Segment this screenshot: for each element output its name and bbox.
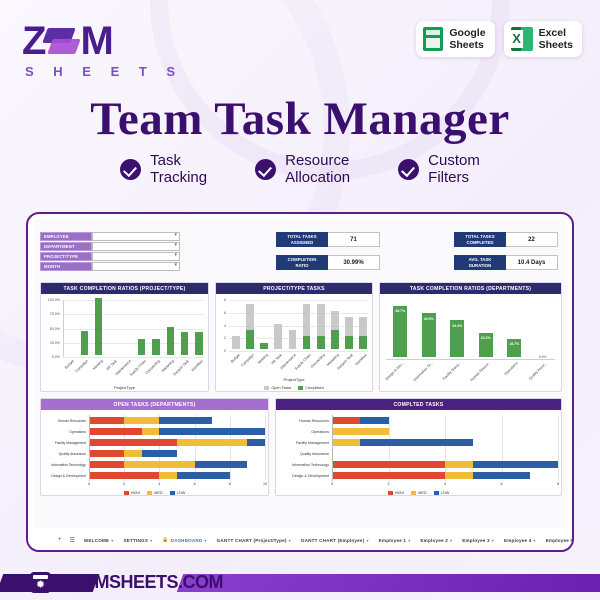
kpi-completion-ratio: COMPLETION RATIO 30.99% <box>276 255 380 270</box>
footer-logo[interactable]: ZOOMSHEETS.COM <box>30 572 223 593</box>
bar-segment-low <box>159 417 212 424</box>
y-axis-category-label: Design & Development <box>276 473 329 477</box>
check-circle-icon <box>255 159 276 180</box>
chart-plot-area: 0.0%25.0%50.0%75.0%100.0%BudgetCampaignM… <box>41 294 208 391</box>
kpi-total-tasks-assigned: TOTAL TASKS ASSIGNED 71 <box>276 232 380 247</box>
lock-icon: 🔒 <box>162 537 168 543</box>
bar-data-label: 33.3% <box>452 324 462 328</box>
x-axis-tick: 2 <box>123 482 125 486</box>
filter-label: PROJECT/TYPE <box>40 252 92 261</box>
feature-label: Resource Allocation <box>285 152 350 186</box>
bar-segment-high <box>89 439 177 446</box>
chevron-down-icon[interactable]: ▾ <box>204 538 206 543</box>
y-axis-category-label: Information Technology <box>276 462 329 466</box>
x-axis-tick: Quality Assur... <box>526 361 547 382</box>
sheet-tab-label: DASHBOARD <box>171 538 203 543</box>
y-axis-tick: 0 <box>216 349 226 353</box>
kpi-value: 10.4 Days <box>506 255 558 270</box>
chart-card-project-type-tasks: PROJECT/TYPE TASKS 02468BudgetCampaignMe… <box>215 282 373 392</box>
bar-segment-high <box>89 417 124 424</box>
bar-segment-med <box>177 439 247 446</box>
bar-segment-open <box>303 304 311 336</box>
bar-segment-low <box>473 461 558 468</box>
legend-label: MED <box>418 491 426 495</box>
legend-label: HIGH <box>131 491 141 495</box>
kpi-value: 22 <box>506 232 558 247</box>
sheet-tab-label: Employee 2 <box>420 538 448 543</box>
x-axis <box>386 359 555 360</box>
add-sheet-button[interactable]: + <box>54 537 66 543</box>
bar <box>167 327 174 356</box>
dashboard-window: EMPLOYEEDEPARTMENTPROJECT/TYPEMONTH TOTA… <box>26 212 574 552</box>
bar-segment-med <box>124 417 159 424</box>
gridline <box>265 415 266 481</box>
x-axis-title: ProjectType <box>216 377 372 382</box>
chart-title: COMPLTED TASKS <box>276 399 561 410</box>
bar-segment-open <box>317 304 325 336</box>
bar-segment-completed <box>345 336 353 349</box>
footer-bar-right <box>177 574 600 592</box>
gridline <box>229 351 368 352</box>
gridline <box>63 300 204 301</box>
bar-segment-open <box>289 330 297 349</box>
x-axis-tick: 0 <box>331 482 333 486</box>
sheet-tab-label: GANTT CHART (Employee) <box>301 538 365 543</box>
sheet-tab-welcome[interactable]: WELCOME▾ <box>79 538 119 543</box>
bar-segment-open <box>246 304 254 330</box>
bar-segment-completed <box>331 330 339 349</box>
kpi-label: COMPLETION RATIO <box>276 255 328 270</box>
kpi-value: 30.99% <box>328 255 380 270</box>
excel-icon: X <box>511 27 533 51</box>
feature-line2: Tracking <box>150 169 207 186</box>
sheet-tab-label: Employee 5 <box>546 538 572 543</box>
sheet-tab-label: WELCOME <box>84 538 109 543</box>
bar <box>393 306 407 357</box>
bar-segment-completed <box>317 336 325 349</box>
x-axis-tick: 10 <box>263 482 267 486</box>
chart-title: PROJECT/TYPE TASKS <box>216 283 372 294</box>
platform-badges: Google Sheets X Excel Sheets <box>416 21 582 57</box>
bar-segment-med <box>124 450 142 457</box>
filter-dropdown[interactable] <box>92 242 180 251</box>
bar-segment-completed <box>260 343 268 349</box>
feature-item-resource-allocation: Resource Allocation <box>255 152 350 186</box>
kpi-label: TOTAL TASKS ASSIGNED <box>276 232 328 247</box>
bar-segment-med <box>159 472 177 479</box>
bar <box>138 339 145 355</box>
legend-item: LOW <box>170 491 186 495</box>
y-axis <box>89 415 90 481</box>
sheet-tab-label: Employee 3 <box>462 538 490 543</box>
bar-segment-low <box>360 417 388 424</box>
x-axis-tick: 6 <box>194 482 196 486</box>
sheet-tab-dashboard[interactable]: 🔒DASHBOARD▾ <box>157 537 211 543</box>
gridline <box>63 329 204 330</box>
kpi-value: 71 <box>328 232 380 247</box>
footer: ZOOMSHEETS.COM <box>0 556 600 600</box>
filter-row-employee: EMPLOYEE <box>40 232 180 241</box>
chevron-down-icon[interactable]: ▾ <box>534 538 536 543</box>
feature-item-task-tracking: Task Tracking <box>120 152 207 186</box>
badge-excel-label: Excel Sheets <box>539 27 573 51</box>
bar <box>152 339 159 355</box>
legend-label: Completed <box>305 386 323 390</box>
bar <box>95 298 102 355</box>
filter-row-project-type: PROJECT/TYPE <box>40 252 180 261</box>
kpi-label-line2: RATIO <box>295 263 308 268</box>
sheet-tab-label: Employee 1 <box>379 538 407 543</box>
google-sheets-icon <box>423 27 443 51</box>
bar-data-label: 40.0% <box>424 317 434 321</box>
bar-segment-med <box>332 428 389 435</box>
bar-data-label: 22.2% <box>481 336 491 340</box>
y-axis-tick: 75.0% <box>41 312 60 316</box>
x-axis-tick: 8 <box>557 482 559 486</box>
bar-segment-completed <box>359 336 367 349</box>
filter-row-department: DEPARTMENT <box>40 242 180 251</box>
sheet-tab-settings[interactable]: SETTINGS▾ <box>119 538 158 543</box>
y-axis-category-label: Design & Development <box>41 473 86 477</box>
all-sheets-button[interactable]: ☰ <box>66 537 79 544</box>
bar-segment-completed <box>246 330 254 349</box>
bar-segment-low <box>159 428 265 435</box>
badge-line2: Sheets <box>449 39 483 51</box>
gridline <box>230 415 231 481</box>
feature-list: Task Tracking Resource Allocation Custom… <box>0 152 600 186</box>
bar-segment-high <box>89 472 159 479</box>
gridline <box>63 357 204 358</box>
chart-plot-area: 02468Human ResourcesOperationsFacility M… <box>276 410 561 495</box>
bar-data-label: 16.7% <box>509 342 519 346</box>
globe-window-icon <box>30 572 51 593</box>
y-axis <box>63 300 64 357</box>
sheet-tab-employee-2[interactable]: Employee 2▾ <box>415 538 457 543</box>
bar-segment-open <box>274 324 282 350</box>
y-axis-tick: 8 <box>216 298 226 302</box>
legend-label: LOW <box>177 491 186 495</box>
chart-title: TASK COMPLETION RATIOS (PROJECT/TYPE) <box>41 283 208 294</box>
chevron-down-icon[interactable]: ▾ <box>408 538 410 543</box>
bar-segment-completed <box>303 336 311 349</box>
legend-item: MED <box>411 491 426 495</box>
legend-label: Open Tasks <box>271 386 291 390</box>
zoomsheets-logo: Z M S H E E T S <box>22 20 183 79</box>
bar-segment-low <box>142 450 177 457</box>
y-axis-category-label: Quality Assurance <box>41 451 86 455</box>
feature-line2: Allocation <box>285 169 350 186</box>
feature-line1: Resource <box>285 152 349 169</box>
y-axis-tick: 4 <box>216 324 226 328</box>
kpi-label-line2: DURATION <box>469 263 491 268</box>
filter-label: EMPLOYEE <box>40 232 92 241</box>
feature-label: Custom Filters <box>428 152 480 186</box>
kpi-avg-task-duration: AVG. TASK DURATION 10.4 Days <box>454 255 558 270</box>
bar-segment-low <box>177 472 230 479</box>
sheet-tab-employee-5[interactable]: Employee 5▾ <box>541 538 572 543</box>
x-axis-title: ProjectType <box>41 385 208 390</box>
chart-title: TASK COMPLETION RATIOS (DEPARTMENTS) <box>380 283 561 294</box>
x-axis-tick: Information Te... <box>412 361 433 382</box>
bar-segment-open <box>359 317 367 336</box>
dashboard-canvas: EMPLOYEEDEPARTMENTPROJECT/TYPEMONTH TOTA… <box>34 220 566 528</box>
legend-item: MED <box>147 491 162 495</box>
sheet-tab-gantt-chart-project-type[interactable]: GANTT CHART (Project/Type)▾ <box>212 538 296 543</box>
bar-segment-high <box>332 417 360 424</box>
feature-item-custom-filters: Custom Filters <box>398 152 480 186</box>
gridline <box>63 314 204 315</box>
bar-segment-low <box>247 439 265 446</box>
legend-item: HIGH <box>124 491 141 495</box>
chevron-down-icon[interactable]: ▾ <box>289 538 291 543</box>
bar-segment-low <box>360 439 473 446</box>
y-axis <box>332 415 333 481</box>
legend-label: MED <box>154 491 162 495</box>
chart-plot-area: 0246810Human ResourcesOperationsFacility… <box>41 410 268 495</box>
bar-segment-high <box>332 472 445 479</box>
chart-title: OPEN TASKS (DEPARTMENTS) <box>41 399 268 410</box>
bar-segment-low <box>473 472 530 479</box>
kpi-label-line2: ASSIGNED <box>291 240 313 245</box>
legend-label: LOW <box>441 491 450 495</box>
x-axis-tick: 6 <box>500 482 502 486</box>
chart-card-completed-tasks: COMPLTED TASKS 02468Human ResourcesOpera… <box>275 398 562 496</box>
y-axis-tick: 25.0% <box>41 341 60 345</box>
x-axis-tick: 8 <box>229 482 231 486</box>
gridline <box>229 300 368 301</box>
chart-legend: HIGHMEDLOW <box>41 491 268 495</box>
filter-dropdown[interactable] <box>92 262 180 271</box>
sheet-tab-employee-1[interactable]: Employee 1▾ <box>374 538 416 543</box>
chart-card-task-completion-ratios-departments: TASK COMPLETION RATIOS (DEPARTMENTS) 46.… <box>379 282 562 392</box>
x-axis-tick: Facility Mana... <box>441 361 462 382</box>
badge-line2: Sheets <box>539 39 573 51</box>
kpi-label-line2: COMPLETED <box>467 240 494 245</box>
filter-panel: EMPLOYEEDEPARTMENTPROJECT/TYPEMONTH <box>40 232 180 272</box>
filter-dropdown[interactable] <box>92 232 180 241</box>
y-axis-category-label: Operations <box>41 429 86 433</box>
legend-item: LOW <box>434 491 450 495</box>
y-axis-category-label: Quality Assurance <box>276 451 329 455</box>
badge-line1: Excel <box>539 27 566 39</box>
sheet-tab-gantt-chart-employee[interactable]: GANTT CHART (Employee)▾ <box>296 538 374 543</box>
sheet-tab-employee-3[interactable]: Employee 3▾ <box>457 538 499 543</box>
bar-segment-med <box>445 472 473 479</box>
bar-segment-high <box>89 461 124 468</box>
y-axis-tick: 100.0% <box>41 298 60 302</box>
bar-segment-med <box>445 461 473 468</box>
filter-row-month: MONTH <box>40 262 180 271</box>
bar-segment-high <box>89 428 142 435</box>
x-axis-tick: 0 <box>88 482 90 486</box>
x-axis-tick: Human Resour... <box>469 361 490 382</box>
legend-label: HIGH <box>395 491 405 495</box>
chevron-down-icon[interactable]: ▾ <box>366 538 368 543</box>
y-axis-tick: 2 <box>216 336 226 340</box>
badge-google-sheets[interactable]: Google Sheets <box>416 21 494 57</box>
y-axis-category-label: Operations <box>276 429 329 433</box>
sheet-tab-bar: + ☰ WELCOME▾SETTINGS▾🔒DASHBOARD▾GANTT CH… <box>28 530 572 550</box>
kpi-label: TOTAL TASKS COMPLETED <box>454 232 506 247</box>
feature-label: Task Tracking <box>150 152 207 186</box>
badge-line1: Google <box>449 27 485 39</box>
bar <box>181 332 188 355</box>
chevron-down-icon[interactable]: ▾ <box>111 538 113 543</box>
x-axis-tick: Operations <box>498 361 519 382</box>
feature-line1: Custom <box>428 152 480 169</box>
logo-oo-mark <box>45 26 79 56</box>
logo-letter-z: Z <box>22 19 44 64</box>
kpi-total-tasks-completed: TOTAL TASKS COMPLETED 22 <box>454 232 558 247</box>
bar-segment-high <box>332 461 445 468</box>
chart-plot-area: 46.7%Design & Dev...40.0%Information Te.… <box>380 294 561 391</box>
bar-segment-med <box>124 461 194 468</box>
y-axis-category-label: Human Resources <box>41 418 86 422</box>
bar-segment-med <box>332 439 360 446</box>
check-circle-icon <box>398 159 419 180</box>
chevron-down-icon[interactable]: ▾ <box>150 538 152 543</box>
filter-dropdown[interactable] <box>92 252 180 261</box>
bar-segment-high <box>89 450 124 457</box>
logo-subtitle: S H E E T S <box>25 64 183 79</box>
chart-plot-area: 02468BudgetCampaignMeetingHR TaskMainten… <box>216 294 372 391</box>
y-axis-tick: 50.0% <box>41 327 60 331</box>
page-title: Team Task Manager <box>0 92 600 146</box>
badge-excel-sheets[interactable]: X Excel Sheets <box>504 21 582 57</box>
bar <box>195 332 202 355</box>
bar <box>81 331 88 355</box>
bar-segment-open <box>232 336 240 349</box>
chart-card-open-tasks-departments: OPEN TASKS (DEPARTMENTS) 0246810Human Re… <box>40 398 269 496</box>
x-axis-tick: 4 <box>444 482 446 486</box>
chart-card-task-completion-ratios-project-type: TASK COMPLETION RATIOS (PROJECT/TYPE) 0.… <box>40 282 209 392</box>
chevron-down-icon[interactable]: ▾ <box>450 538 452 543</box>
y-axis-tick: 6 <box>216 311 226 315</box>
chart-legend: Open TasksCompleted <box>216 386 372 390</box>
y-axis-category-label: Human Resources <box>276 418 329 422</box>
legend-item: Open Tasks <box>264 386 291 390</box>
y-axis-category-label: Information Technology <box>41 462 86 466</box>
chart-legend: HIGHMEDLOW <box>276 491 561 495</box>
x-axis-tick: Design & Dev... <box>384 361 405 382</box>
x-axis-tick: 4 <box>158 482 160 486</box>
footer-site-label: ZOOMSHEETS.COM <box>57 572 223 593</box>
legend-item: HIGH <box>388 491 405 495</box>
bar-segment-open <box>345 317 353 336</box>
logo-letter-m: M <box>80 19 112 64</box>
badge-google-sheets-label: Google Sheets <box>449 27 485 51</box>
y-axis-category-label: Facility Management <box>276 440 329 444</box>
sheet-tab-label: GANTT CHART (Project/Type) <box>217 538 287 543</box>
bar-data-label: 46.7% <box>395 309 405 313</box>
chevron-down-icon[interactable]: ▾ <box>492 538 494 543</box>
bar-segment-open <box>331 311 339 330</box>
sheet-tab-label: Employee 4 <box>504 538 532 543</box>
legend-item: Completed <box>298 386 323 390</box>
x-axis-tick: 2 <box>387 482 389 486</box>
sheet-tab-employee-4[interactable]: Employee 4▾ <box>499 538 541 543</box>
feature-line2: Filters <box>428 169 469 186</box>
kpi-label: AVG. TASK DURATION <box>454 255 506 270</box>
y-axis-tick: 0.0% <box>41 355 60 359</box>
bar-segment-med <box>142 428 160 435</box>
bar-segment-low <box>195 461 248 468</box>
check-circle-icon <box>120 159 141 180</box>
feature-line1: Task <box>150 152 181 169</box>
gridline <box>558 415 559 481</box>
sheet-tab-label: SETTINGS <box>124 538 149 543</box>
filter-label: DEPARTMENT <box>40 242 92 251</box>
poster-page: Z M S H E E T S Google Sheets X Excel Sh… <box>0 0 600 600</box>
filter-label: MONTH <box>40 262 92 271</box>
y-axis-category-label: Facility Management <box>41 440 86 444</box>
